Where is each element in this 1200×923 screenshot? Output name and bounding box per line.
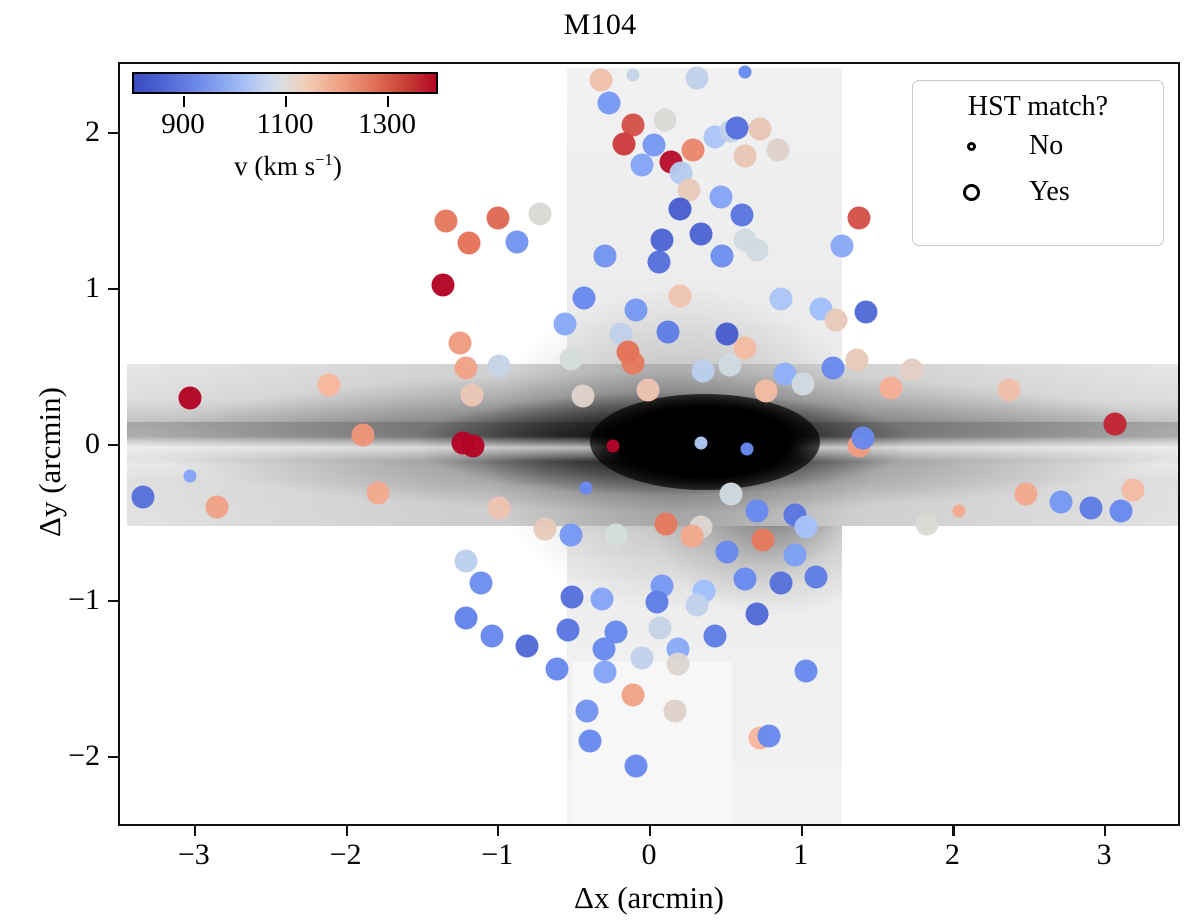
scatter-point [846,349,869,372]
x-tick [801,826,803,836]
scatter-point [545,657,568,680]
scatter-point [734,144,757,167]
colorbar-label-text: v (km s [234,151,315,181]
scatter-point [571,385,594,408]
x-tick [497,826,499,836]
scatter-point [553,313,576,336]
scatter-point [624,299,647,322]
scatter-point [852,427,875,450]
scatter-point [506,230,529,253]
scatter-point [720,483,743,506]
legend-marker-no [913,142,1029,151]
colorbar-gradient [132,72,438,94]
legend-box[interactable]: HST match? No Yes [912,80,1164,246]
x-tick-label: 1 [793,838,808,872]
scatter-point [740,443,753,456]
scatter-point [825,308,848,331]
scatter-point [752,528,775,551]
scatter-point [1014,483,1037,506]
scatter-point [691,360,714,383]
scatter-point [576,700,599,723]
scatter-point [770,288,793,311]
x-tick [194,826,196,836]
scatter-point [432,274,455,297]
legend-entry-no[interactable]: No [913,123,1163,169]
scatter-point [715,541,738,564]
scatter-point [646,590,669,613]
y-tick [108,600,118,602]
scatter-point [649,617,672,640]
colorbar-tick-labels: 90011001300 [132,108,444,142]
x-tick [1104,826,1106,836]
colorbar-label-close: ) [333,151,342,181]
y-tick-label: −2 [68,739,100,773]
scatter-point [573,286,596,309]
scatter-point [739,65,752,78]
scatter-point [612,132,635,155]
scatter-point [726,116,749,139]
scatter-point [952,505,965,518]
scatter-point [647,251,670,274]
colorbar-tick-label: 900 [161,108,205,141]
legend-entry-yes[interactable]: Yes [913,169,1163,215]
scatter-point [178,386,201,409]
scatter-point [470,572,493,595]
page-title: M104 [0,8,1200,42]
scatter-point [668,285,691,308]
y-tick [108,444,118,446]
scatter-point [650,229,673,252]
x-tick [952,826,954,836]
scatter-point [831,235,854,258]
x-axis-title: Δx (arcmin) [118,880,1180,916]
scatter-point [718,353,741,376]
scatter-point [630,154,653,177]
scatter-point [636,378,659,401]
scatter-point [515,634,538,657]
scatter-point [607,440,620,453]
scatter-point [579,482,592,495]
scatter-point [621,684,644,707]
scatter-point [685,594,708,617]
scatter-point [454,606,477,629]
scatter-point [591,587,614,610]
colorbar-tick [387,96,389,107]
colorbar-tick-label: 1300 [358,108,416,141]
x-tick-label: 3 [1097,838,1112,872]
scatter-point [1110,500,1133,523]
scatter-point [579,729,602,752]
figure-canvas: M104 90011001300 v (km s−1) [0,0,1200,923]
scatter-point [998,378,1021,401]
scatter-point [682,138,705,161]
y-tick [108,132,118,134]
scatter-point [454,357,477,380]
scatter-point [594,244,617,267]
scatter-point [668,198,691,221]
colorbar-axis-label: v (km s−1) [132,150,444,182]
scatter-point [794,659,817,682]
scatter-point [366,481,389,504]
legend-marker-yes [913,184,1029,201]
scatter-point [784,544,807,567]
scatter-point [594,661,617,684]
x-tick-label: −2 [330,838,362,872]
scatter-point [755,380,778,403]
open-circle-small-icon [967,142,976,151]
y-tick-label: 1 [85,271,100,305]
scatter-point [794,516,817,539]
scatter-point [822,357,845,380]
scatter-point [617,341,640,364]
scatter-point [454,550,477,573]
scatter-point [653,109,676,132]
scatter-point [1079,497,1102,520]
scatter-point [703,625,726,648]
y-tick [108,756,118,758]
scatter-point [462,435,485,458]
scatter-point [767,138,790,161]
scatter-point [1104,413,1127,436]
scatter-point [488,355,511,378]
scatter-point [559,523,582,546]
x-tick-label: 0 [642,838,657,872]
colorbar: 90011001300 v (km s−1) [132,72,444,94]
scatter-point [711,244,734,267]
scatter-point [448,332,471,355]
scatter-point [529,202,552,225]
scatter-point [559,347,582,370]
scatter-point [589,68,612,91]
scatter-point [749,118,772,141]
scatter-point [605,523,628,546]
scatter-point [758,725,781,748]
scatter-point [734,567,757,590]
scatter-point [746,500,769,523]
x-tick-label: 2 [945,838,960,872]
scatter-point [715,322,738,345]
y-tick [108,288,118,290]
scatter-point [624,754,647,777]
colorbar-tick [285,96,287,107]
scatter-point [695,436,708,449]
scatter-point [664,700,687,723]
colorbar-label-exponent: −1 [315,150,333,169]
scatter-point [597,91,620,114]
x-tick-label: −1 [481,838,513,872]
scatter-point [805,565,828,588]
scatter-point [655,512,678,535]
scatter-point [656,321,679,344]
scatter-point [460,383,483,406]
scatter-point [351,424,374,447]
legend-title: HST match? [913,91,1163,123]
scatter-point [770,572,793,595]
scatter-point [680,525,703,548]
scatter-point [206,495,229,518]
scatter-point [847,207,870,230]
open-circle-large-icon [963,184,980,201]
scatter-point [488,497,511,520]
x-tick [346,826,348,836]
scatter-point [630,647,653,670]
scatter-point [592,637,615,660]
plot-axes: 90011001300 v (km s−1) HST match? No [118,62,1180,826]
scatter-point [746,603,769,626]
scatter-point [183,469,196,482]
scatter-point [731,204,754,227]
scatter-point [533,517,556,540]
scatter-point [556,618,579,641]
colorbar-tick-label: 1100 [257,108,314,141]
scatter-point [318,374,341,397]
scatter-point [480,625,503,648]
legend-label-yes: Yes [1029,176,1070,208]
scatter-point [131,486,154,509]
scatter-point [690,222,713,245]
colorbar-tick [183,96,185,107]
scatter-point [685,67,708,90]
scatter-point [457,232,480,255]
y-tick-label: 0 [85,427,100,461]
y-tick-label: 2 [85,115,100,149]
scatter-point [746,238,769,261]
scatter-point [900,358,923,381]
scatter-point [561,586,584,609]
scatter-point [879,377,902,400]
scatter-point [626,68,639,81]
x-tick [649,826,651,836]
scatter-point [791,372,814,395]
scatter-point [435,210,458,233]
legend-label-no: No [1029,130,1063,162]
x-tick-label: −3 [178,838,210,872]
scatter-point [1122,478,1145,501]
scatter-point [667,653,690,676]
scatter-point [1049,491,1072,514]
y-axis-title: Δy (arcmin) [32,80,68,844]
scatter-point [709,185,732,208]
scatter-point [855,300,878,323]
plot-clip: 90011001300 v (km s−1) HST match? No [120,64,1178,824]
scatter-point [916,512,939,535]
scatter-point [486,207,509,230]
y-tick-label: −1 [68,583,100,617]
